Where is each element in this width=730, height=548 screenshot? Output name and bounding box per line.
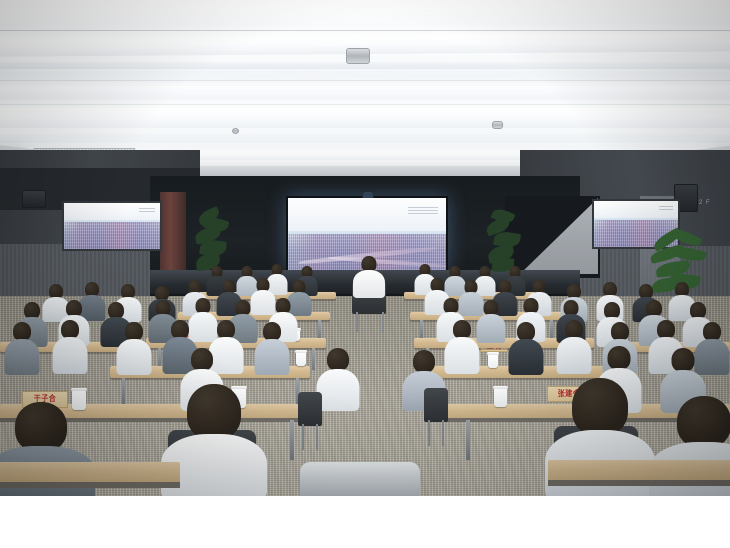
person-head (608, 346, 631, 370)
person-head (677, 396, 730, 448)
screen-city-texture (64, 222, 160, 249)
aisle-chair[interactable] (298, 392, 322, 426)
screen-watermark (139, 207, 155, 212)
chair-leg (316, 424, 318, 450)
table-leg (420, 320, 423, 338)
teacup (488, 354, 498, 368)
attendee (52, 320, 88, 374)
stage-curtain-left (160, 192, 186, 272)
table-edge (0, 482, 180, 488)
table-leg (466, 420, 470, 460)
person-torso (353, 270, 385, 298)
ceiling-seam-2 (0, 80, 730, 81)
person-torso (53, 337, 88, 374)
person-torso (445, 337, 480, 374)
attendee (476, 300, 506, 342)
plant-stage-right (486, 208, 520, 274)
ceiling-light-strip-3 (0, 86, 730, 100)
person-torso (5, 339, 40, 375)
chair-leg (356, 312, 358, 332)
ceiling-seam-3 (0, 104, 730, 105)
teacup-lid (493, 386, 508, 389)
person-torso (255, 339, 290, 375)
floor-sign-right: 2 F (699, 200, 711, 206)
teacup (494, 388, 507, 407)
person-head (572, 378, 628, 436)
teacup-lid (71, 388, 87, 391)
left-screen-image (64, 203, 160, 249)
wall-speaker-left (22, 190, 46, 208)
chair-leg (382, 312, 384, 332)
table-leg (122, 378, 125, 404)
teacup-lid (487, 352, 499, 355)
table-leg (550, 320, 553, 338)
left-side-screen[interactable] (62, 201, 162, 251)
attendee (508, 322, 544, 374)
chair-leg (428, 420, 430, 446)
ceiling-light-strip-4 (0, 108, 730, 128)
table-row (548, 460, 730, 482)
person-torso (509, 339, 544, 375)
person-torso (557, 337, 592, 374)
screen-sky (288, 198, 446, 235)
person-torso (117, 339, 152, 375)
table-leg (318, 320, 321, 338)
person-head (191, 348, 213, 371)
table-leg (290, 420, 294, 460)
person-head (672, 348, 695, 372)
person-torso (477, 314, 506, 343)
person-head (187, 384, 241, 440)
conference-room-photograph: 2 F 2 F (0, 0, 730, 496)
attendee (556, 320, 592, 374)
person-head (413, 350, 435, 373)
attendee (316, 348, 360, 410)
screen-watermark (408, 205, 438, 214)
photo-canvas: 2 F 2 F (0, 0, 730, 548)
table-edge (548, 480, 730, 486)
plant-stage-left (194, 204, 228, 274)
attendee (4, 322, 40, 374)
person-torso (317, 369, 360, 411)
ceiling-detector-icon (346, 48, 370, 64)
foreground-chair[interactable] (300, 462, 420, 496)
page-whitespace (0, 496, 730, 548)
aisle-chair[interactable] (424, 388, 448, 422)
screen-watermark (659, 205, 673, 210)
chair-leg (302, 424, 304, 450)
person-head (15, 402, 67, 452)
attendee (444, 320, 480, 374)
teacup (296, 352, 306, 366)
front-attendee (352, 256, 386, 296)
screen-cityscape (64, 222, 160, 249)
attendee (116, 322, 152, 374)
chair-leg (442, 420, 444, 446)
attendee (254, 322, 290, 374)
ceiling-seam-1 (0, 30, 730, 31)
table-row (0, 462, 180, 484)
table-leg (312, 348, 315, 370)
projector-mount-icon (492, 121, 503, 129)
person-head (327, 348, 349, 371)
ceiling-sprinkler-icon (232, 128, 239, 134)
teacup-lid (295, 350, 307, 353)
ceiling-light-strip-5 (0, 134, 730, 143)
